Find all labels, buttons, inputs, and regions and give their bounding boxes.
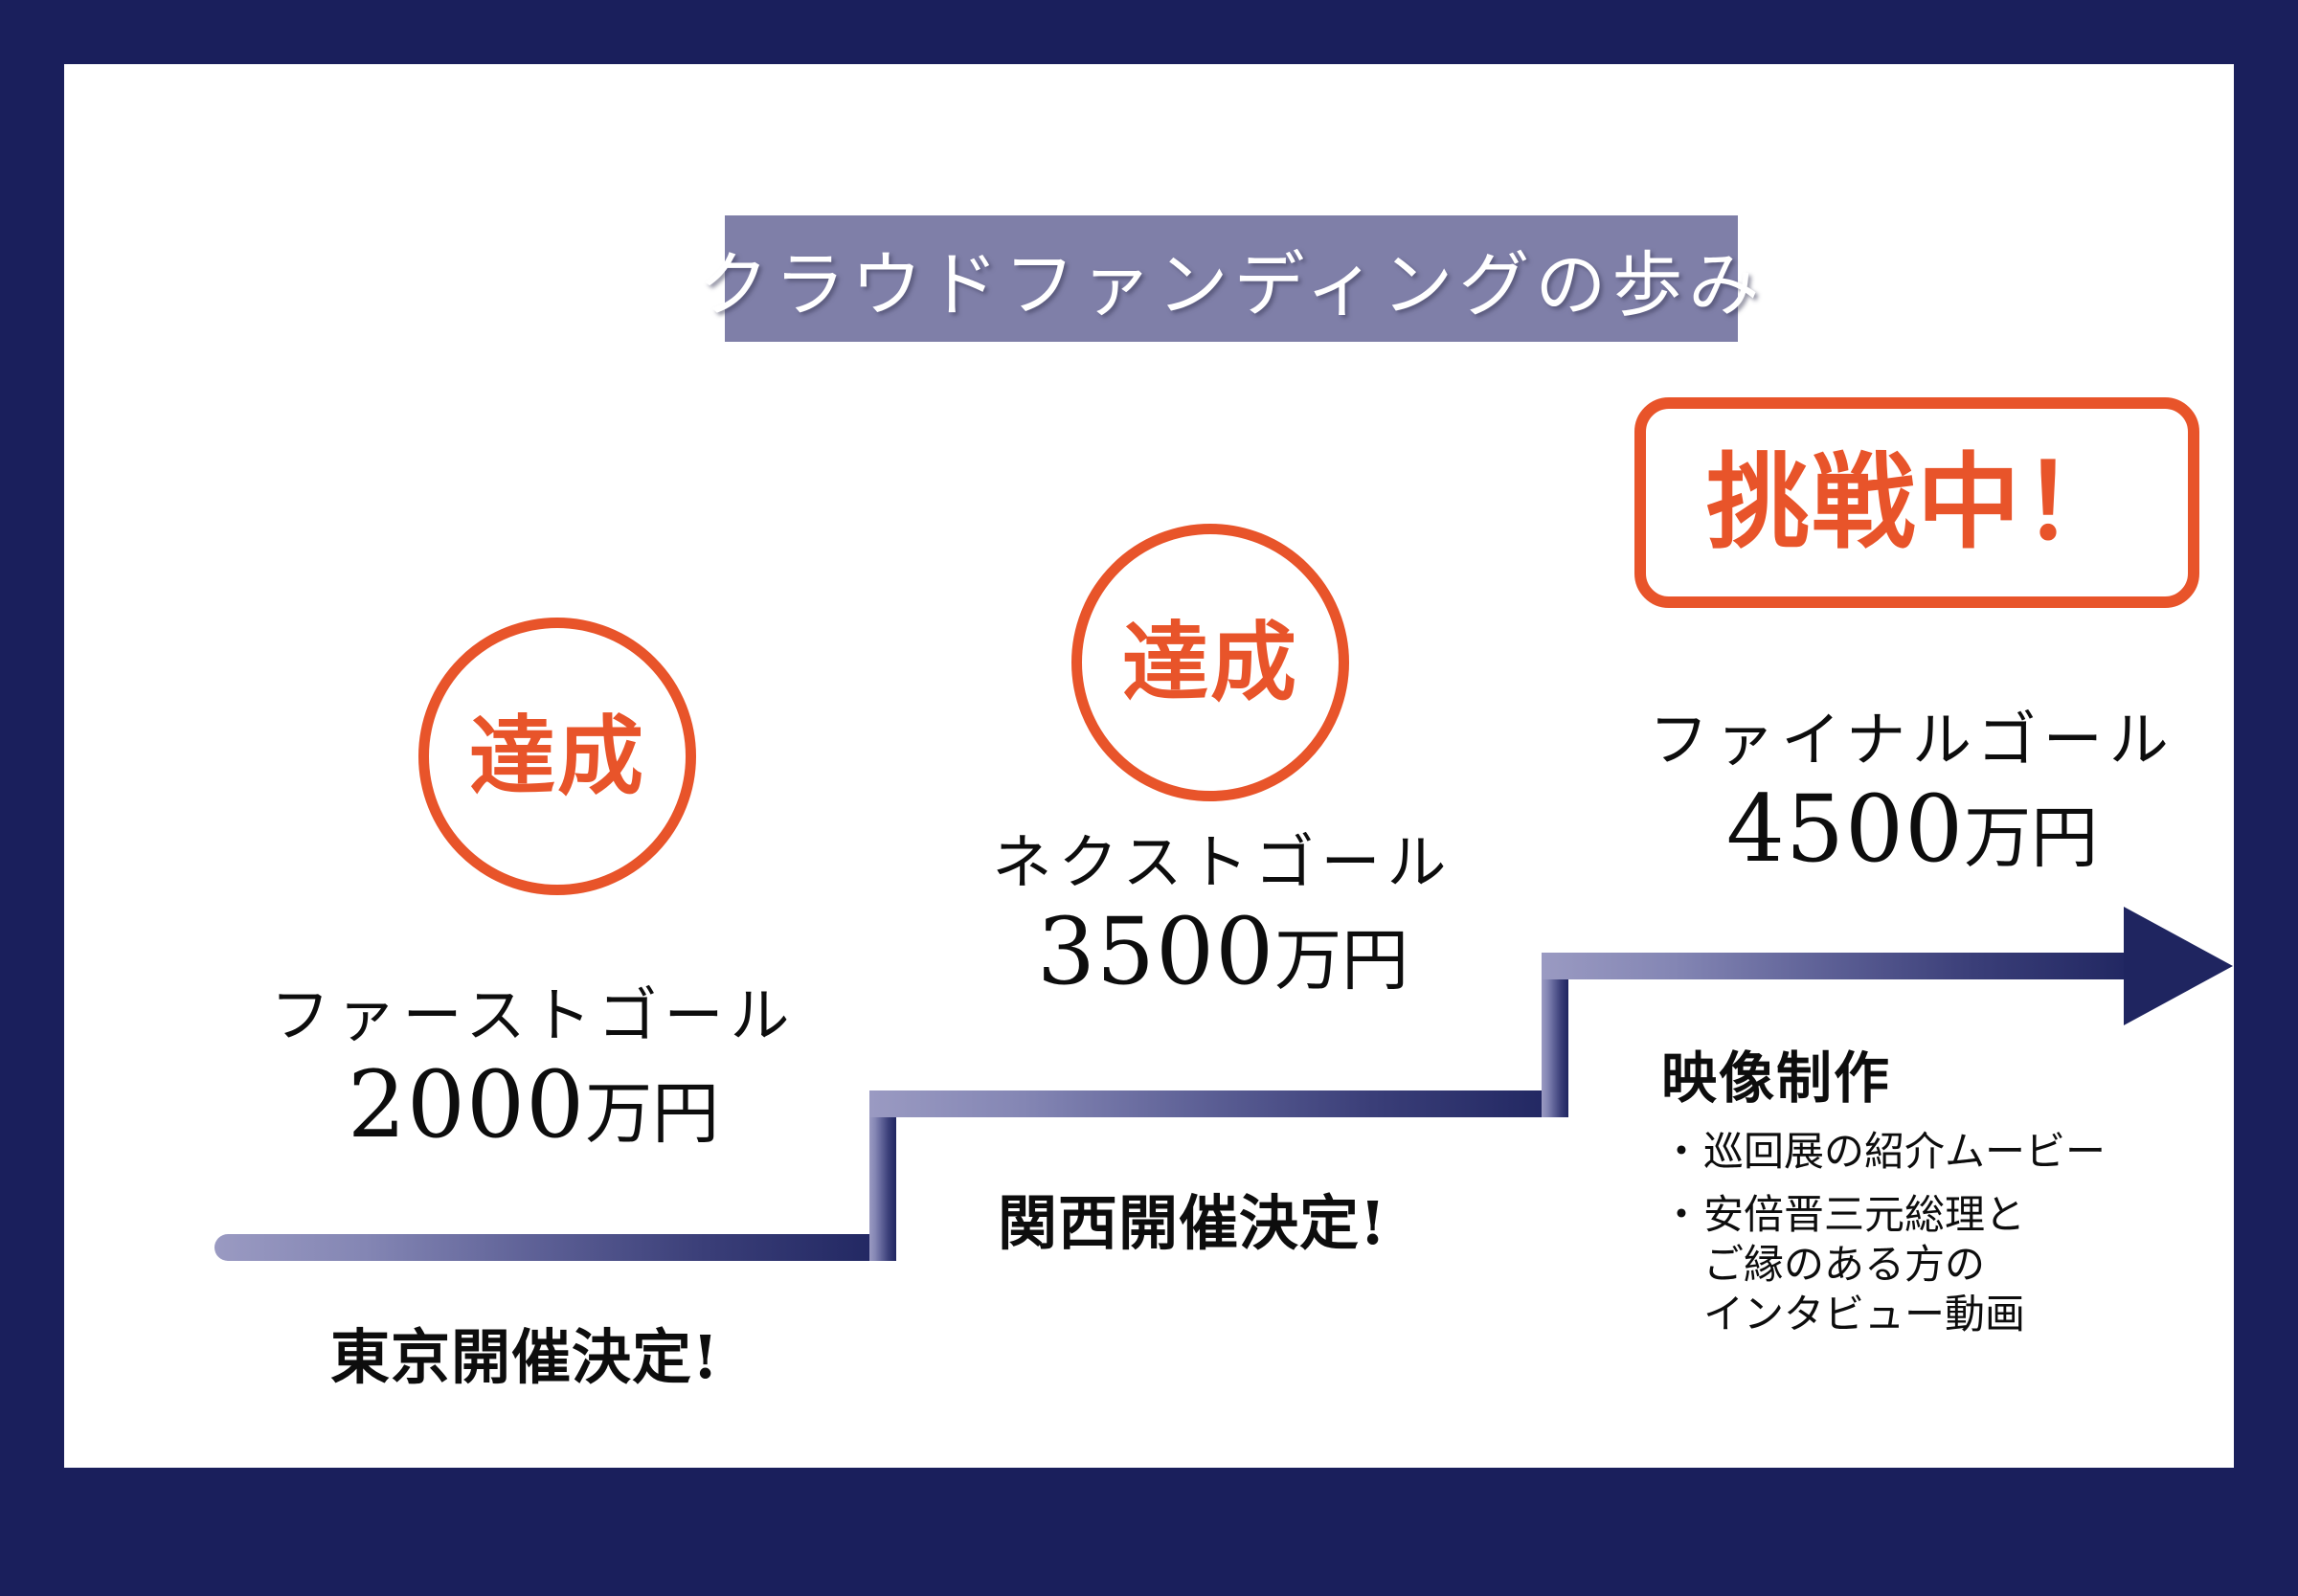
goal-amount-value: 4500 bbox=[1726, 776, 1964, 883]
goal-amount: 4500万円 bbox=[1615, 776, 2209, 882]
status-stamp-label: 達成 bbox=[469, 713, 645, 799]
goal-amount-unit: 万円 bbox=[1964, 798, 2098, 877]
list-item-line: 巡回展の紹介ムービー bbox=[1703, 1127, 2106, 1177]
goal-amount-unit: 万円 bbox=[1274, 921, 1408, 1000]
status-stamp-label: 達成 bbox=[1122, 619, 1298, 706]
bullet-icon: ・ bbox=[1661, 1190, 1701, 1339]
list-item: ・ 巡回展の紹介ムービー bbox=[1661, 1127, 2197, 1177]
goal-block-final: ファイナルゴール 4500万円 bbox=[1615, 708, 2209, 883]
goal-amount: 2000万円 bbox=[237, 1052, 830, 1158]
page-title: クラウドファンディングの歩み bbox=[698, 228, 1766, 330]
goal-block-next: ネクストゴール 3500万円 bbox=[955, 830, 1491, 1005]
goal-amount-value: 2000 bbox=[348, 1051, 585, 1158]
goal-name: ファイナルゴール bbox=[1615, 708, 2209, 773]
list-item-text: 安倍晋三元総理と ご縁のある方の インタビュー動画 bbox=[1703, 1190, 2025, 1339]
list-item-text: 巡回展の紹介ムービー bbox=[1703, 1127, 2106, 1177]
goal-name: ネクストゴール bbox=[955, 830, 1491, 895]
goal-amount-value: 3500 bbox=[1037, 898, 1274, 1005]
list-item-line: 安倍晋三元総理と bbox=[1703, 1190, 2025, 1240]
status-stamp-final-goal: 挑戦中！ bbox=[1634, 397, 2199, 608]
list-item: ・ 安倍晋三元総理と ご縁のある方の インタビュー動画 bbox=[1661, 1190, 2197, 1339]
list-item-line: インタビュー動画 bbox=[1703, 1290, 2025, 1339]
goal-block-first: ファーストゴール 2000万円 bbox=[237, 983, 830, 1158]
final-goal-detail-block: 映像制作 ・ 巡回展の紹介ムービー ・ 安倍晋三元総理と ご縁のある方の インタ… bbox=[1661, 1050, 2197, 1353]
status-stamp-next-goal: 達成 bbox=[1071, 524, 1349, 801]
canvas-area: クラウドファンディングの歩み 達成 達成 挑戦中！ ファーストゴール 2000万… bbox=[64, 64, 2234, 1468]
goal-name: ファーストゴール bbox=[237, 983, 830, 1048]
step-caption-kansai: 関西開催決定! bbox=[998, 1194, 1386, 1253]
status-stamp-first-goal: 達成 bbox=[418, 618, 696, 895]
goal-amount: 3500万円 bbox=[955, 899, 1491, 1004]
infographic-root: クラウドファンディングの歩み 達成 達成 挑戦中！ ファーストゴール 2000万… bbox=[0, 0, 2298, 1532]
bullet-icon: ・ bbox=[1661, 1127, 1701, 1177]
title-banner: クラウドファンディングの歩み bbox=[725, 215, 1738, 342]
list-item-line: ご縁のある方の bbox=[1703, 1240, 2025, 1290]
detail-heading: 映像制作 bbox=[1661, 1050, 2197, 1106]
goal-amount-unit: 万円 bbox=[585, 1074, 719, 1153]
status-stamp-label: 挑戦中！ bbox=[1706, 451, 2128, 554]
step-caption-tokyo: 東京開催決定! bbox=[330, 1328, 719, 1387]
